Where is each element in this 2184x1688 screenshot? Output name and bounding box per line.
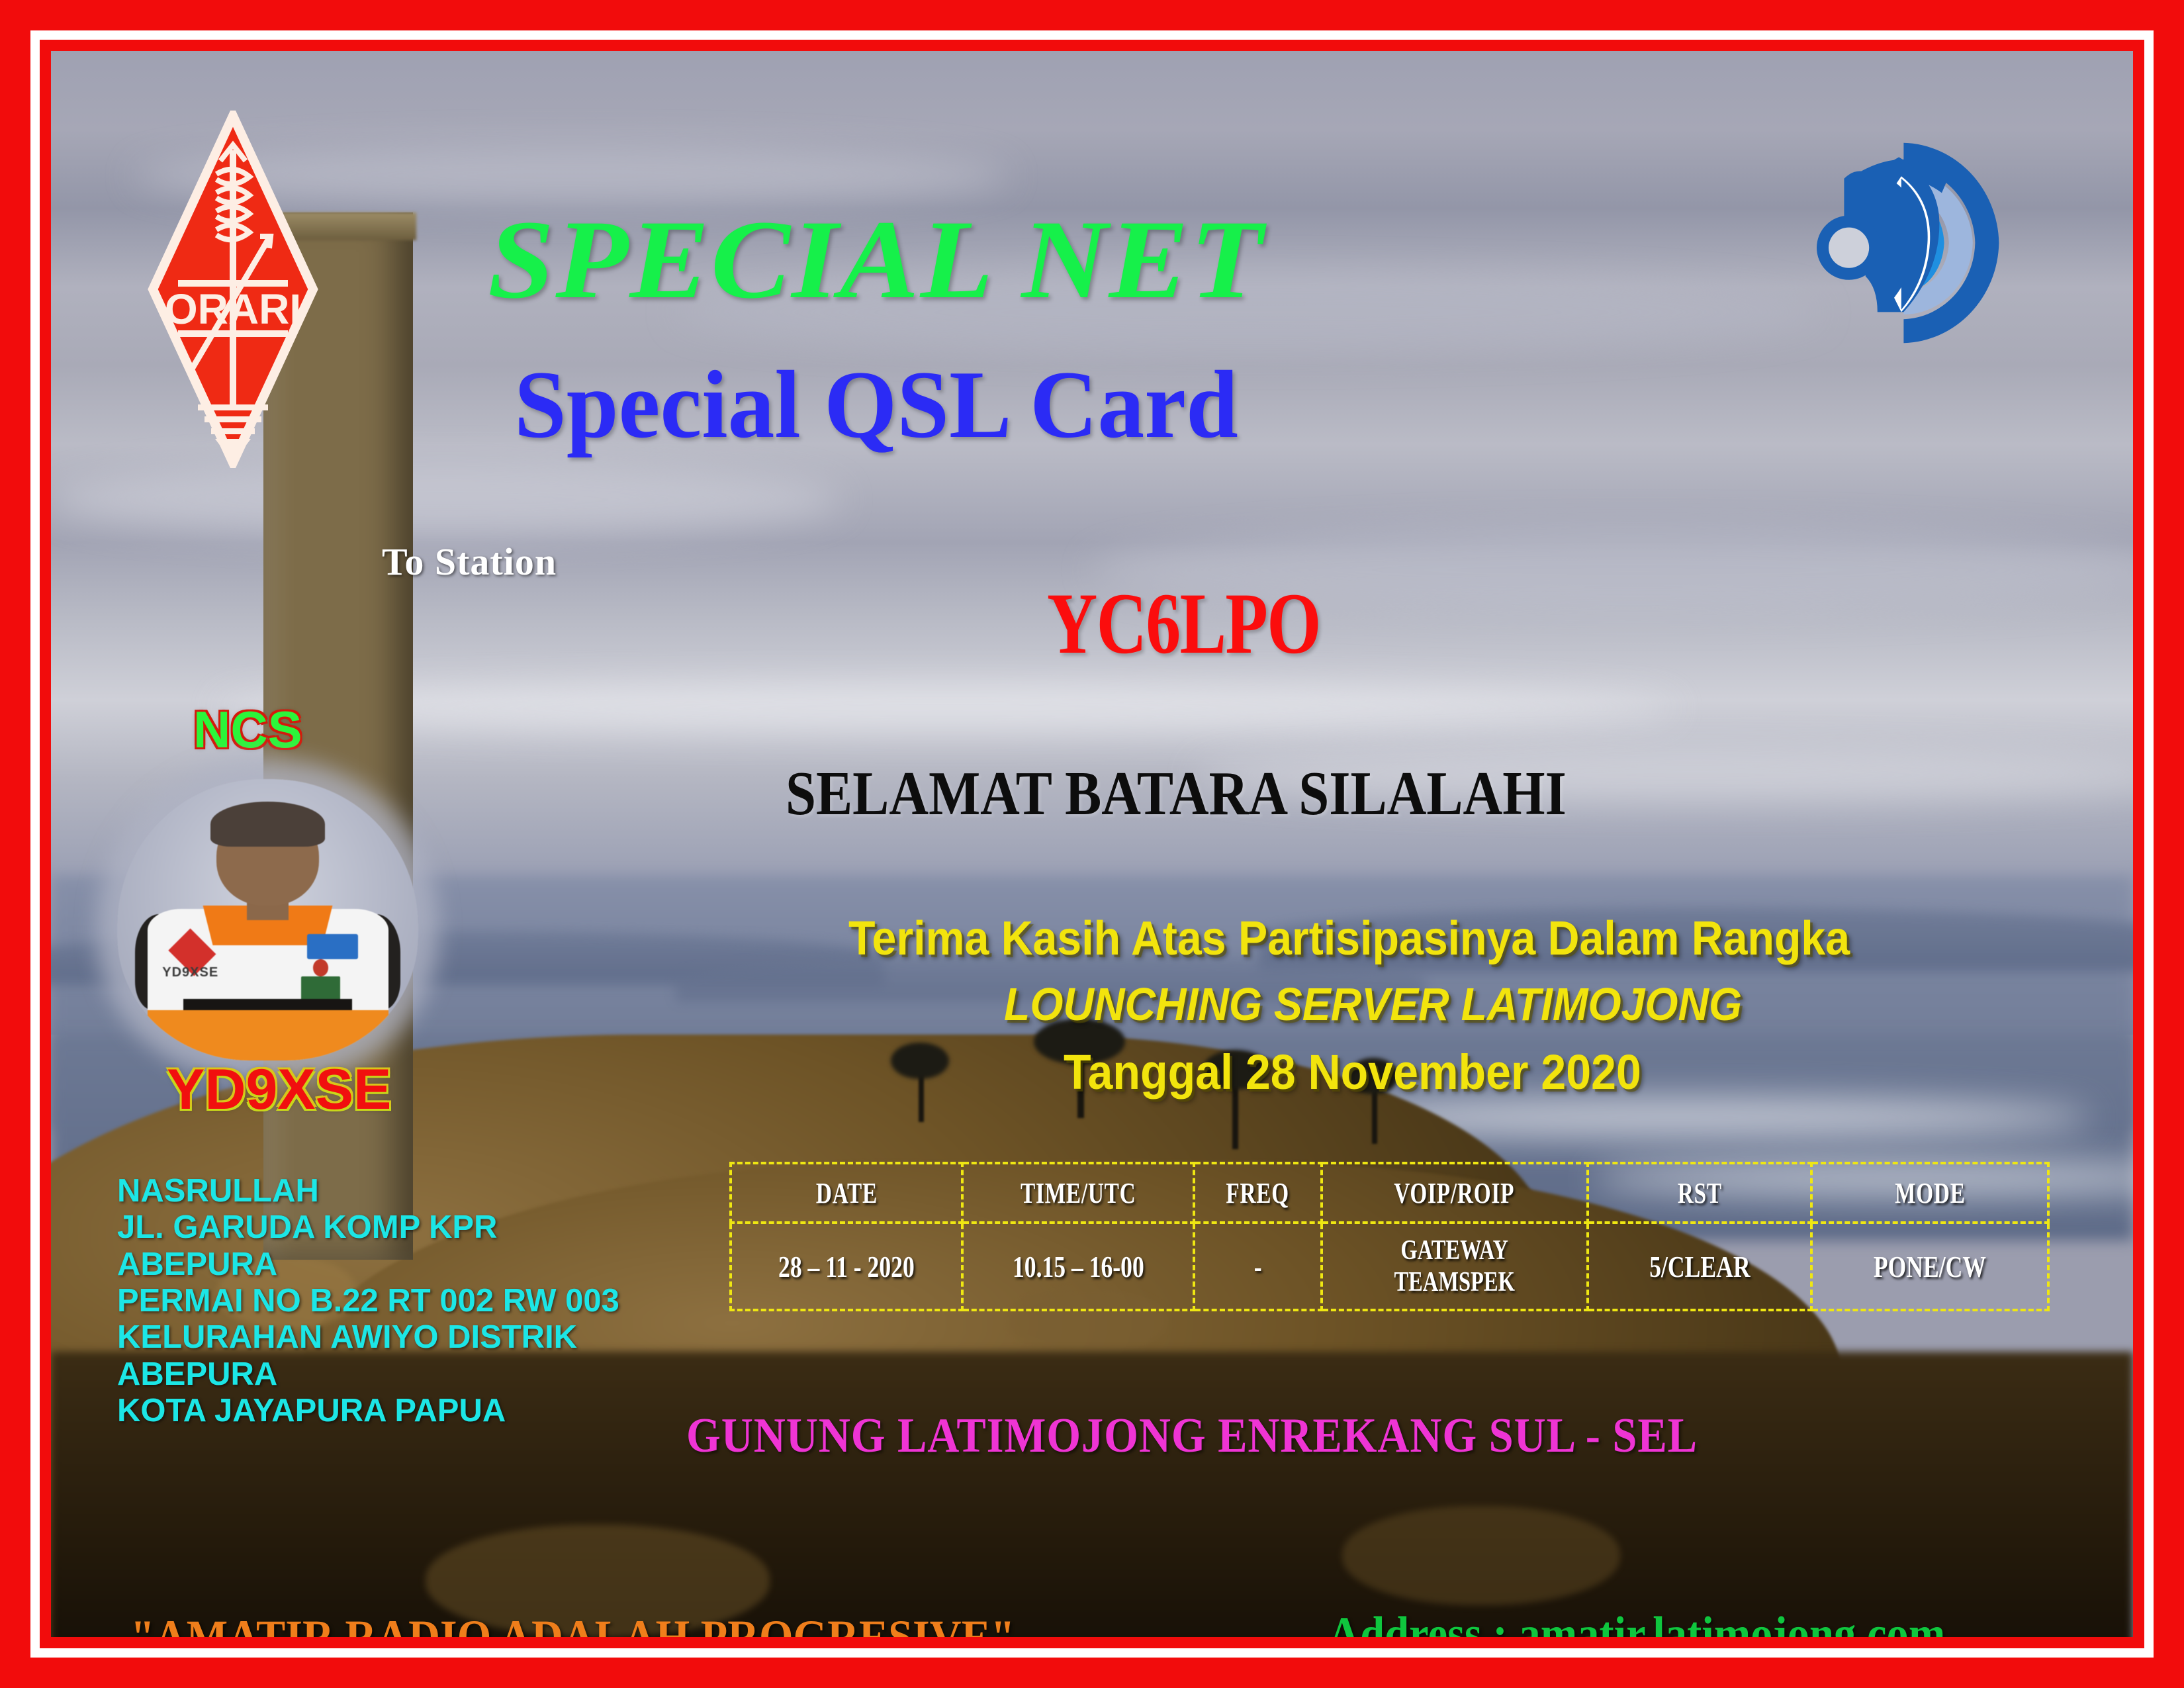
address-line: KELURAHAN AWIYO DISTRIK — [117, 1319, 619, 1356]
address-line: ABEPURA — [117, 1246, 619, 1283]
address-line: JL. GARUDA KOMP KPR — [117, 1209, 619, 1246]
operator-address: NASRULLAH JL. GARUDA KOMP KPR ABEPURA PE… — [117, 1173, 619, 1430]
cell-freq-text: - — [1254, 1249, 1262, 1284]
thanks-line-2-event: LOUNCHING SERVER LATIMOJONG — [1004, 978, 1742, 1031]
page-subtitle-qsl-card: Special QSL Card — [514, 349, 1238, 460]
cell-voip-line1: GATEWAY — [1353, 1235, 1557, 1266]
cell-mode-text: PONE/CW — [1874, 1249, 1986, 1284]
cell-rst: 5/CLEAR — [1598, 1223, 1800, 1310]
address-line: PERMAI NO B.22 RT 002 RW 003 — [117, 1283, 619, 1319]
recipient-name: SELAMAT BATARA SILALAHI — [786, 758, 1567, 829]
table-header-freq: FREQ — [1202, 1163, 1314, 1223]
qsl-card-frame-outer: ORARI — [0, 0, 2184, 1688]
cell-freq: - — [1201, 1223, 1316, 1310]
footer-slogan: "AMATIR RADIO ADALAH PROGRESIVE" — [130, 1610, 1015, 1637]
cell-time: 10.15 – 16-00 — [974, 1223, 1183, 1310]
mountain-location-label: GUNUNG LATIMOJONG ENREKANG SUL - SEL — [686, 1408, 1698, 1464]
qsl-card-frame-inner: ORARI — [40, 40, 2144, 1648]
thanks-line-3-date: Tanggal 28 November 2020 — [1064, 1044, 1641, 1100]
cell-rst-text: 5/CLEAR — [1649, 1249, 1750, 1284]
cell-date: 28 – 11 - 2020 — [743, 1223, 951, 1310]
table-header-freq-text: FREQ — [1226, 1176, 1290, 1210]
address-line: ABEPURA — [117, 1356, 619, 1393]
content-overlay: ORARI — [51, 51, 2133, 1637]
table-header-date: DATE — [745, 1163, 948, 1223]
table-header-rst: RST — [1601, 1163, 1798, 1223]
address-line: NASRULLAH — [117, 1173, 619, 1209]
page-title-special-net: SPECIAL NET — [488, 195, 1264, 324]
qso-log-table: DATE TIME/UTC FREQ VOIP/ROIP RST MODE 28… — [729, 1162, 2050, 1311]
radio-headphone-logo — [1796, 124, 2040, 362]
background-photo-mountain-summit: ORARI — [51, 51, 2133, 1637]
operator-photo-shirt-tag: YD9XSE — [162, 965, 218, 980]
ncs-label: NCS — [193, 700, 302, 760]
table-header-row: DATE TIME/UTC FREQ VOIP/ROIP RST MODE — [731, 1163, 2048, 1223]
cell-voip-line2: TEAMSPEK — [1353, 1266, 1557, 1298]
thanks-line-1: Terima Kasih Atas Partisipasinya Dalam R… — [848, 912, 1850, 966]
table-header-mode: MODE — [1825, 1163, 2034, 1223]
table-header-voip-text: VOIP/ROIP — [1394, 1176, 1515, 1210]
cell-time-text: 10.15 – 16-00 — [1013, 1249, 1144, 1284]
table-row: 28 – 11 - 2020 10.15 – 16-00 - GATEWAY T… — [731, 1223, 2048, 1310]
table-header-rst-text: RST — [1677, 1176, 1721, 1210]
ncs-callsign: YD9XSE — [167, 1057, 391, 1123]
to-station-label: To Station — [382, 539, 557, 584]
table-header-time: TIME/UTC — [976, 1163, 1180, 1223]
orari-logo: ORARI — [144, 111, 322, 468]
qsl-card-frame-gap: ORARI — [30, 30, 2154, 1658]
recipient-callsign: YC6LPO — [1047, 573, 1320, 674]
orari-logo-text: ORARI — [165, 285, 301, 333]
table-header-mode-text: MODE — [1895, 1176, 1966, 1210]
cell-date-text: 28 – 11 - 2020 — [778, 1249, 915, 1284]
cell-mode: PONE/CW — [1823, 1223, 2036, 1310]
table-header-time-text: TIME/UTC — [1021, 1176, 1136, 1210]
table-header-voip: VOIP/ROIP — [1338, 1163, 1571, 1223]
footer-web-address: Address : amatir.latimojong.com — [1328, 1607, 1945, 1637]
cell-voip: GATEWAY TEAMSPEK — [1335, 1223, 1574, 1310]
operator-photo: YD9XSE — [117, 779, 418, 1060]
table-header-date-text: DATE — [816, 1176, 878, 1210]
address-line: KOTA JAYAPURA PAPUA — [117, 1393, 619, 1429]
